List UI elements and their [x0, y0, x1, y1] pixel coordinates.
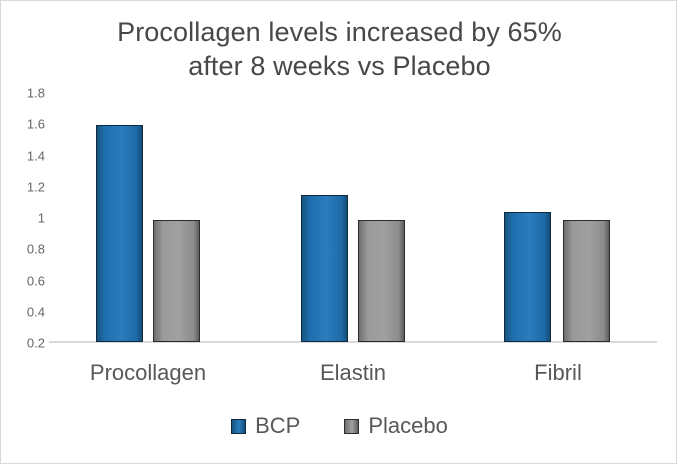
bar-bcp-elastin[interactable]	[301, 195, 348, 342]
category-label-fibril: Fibril	[534, 359, 582, 387]
legend-item-bcp[interactable]: BCP	[231, 413, 300, 439]
y-tick-label: 1.2	[1, 180, 45, 193]
chart-title: Procollagen levels increased by 65% afte…	[1, 15, 678, 83]
x-axis-category-labels: Procollagen Elastin Fibril	[49, 359, 657, 391]
category-label-elastin: Elastin	[320, 359, 386, 387]
chart-title-line-2: after 8 weeks vs Placebo	[1, 49, 678, 83]
y-tick-label: 1.8	[1, 87, 45, 100]
y-tick-label: 1.4	[1, 149, 45, 162]
chart-container: Procollagen levels increased by 65% afte…	[0, 0, 677, 464]
y-tick-label: 0.6	[1, 274, 45, 287]
legend-swatch-icon-placebo	[344, 419, 359, 434]
y-tick-label: 1	[1, 212, 45, 225]
plot-area	[49, 93, 657, 343]
y-tick-label: 0.2	[1, 337, 45, 350]
legend-swatch-icon-bcp	[231, 419, 246, 434]
chart-legend: BCP Placebo	[1, 413, 678, 439]
bar-bcp-procollagen[interactable]	[96, 125, 143, 342]
chart-title-line-1: Procollagen levels increased by 65%	[1, 15, 678, 49]
legend-label-placebo: Placebo	[368, 413, 448, 439]
bar-bcp-fibril[interactable]	[504, 212, 551, 342]
legend-item-placebo[interactable]: Placebo	[344, 413, 448, 439]
bar-placebo-procollagen[interactable]	[153, 220, 200, 342]
legend-label-bcp: BCP	[255, 413, 300, 439]
y-tick-label: 0.4	[1, 305, 45, 318]
category-label-procollagen: Procollagen	[90, 359, 206, 387]
y-axis-tick-labels: 1.8 1.6 1.4 1.2 1 0.8 0.6 0.4 0.2	[1, 93, 45, 343]
bar-placebo-fibril[interactable]	[563, 220, 610, 342]
bar-placebo-elastin[interactable]	[358, 220, 405, 342]
y-tick-label: 1.6	[1, 118, 45, 131]
y-tick-label: 0.8	[1, 243, 45, 256]
